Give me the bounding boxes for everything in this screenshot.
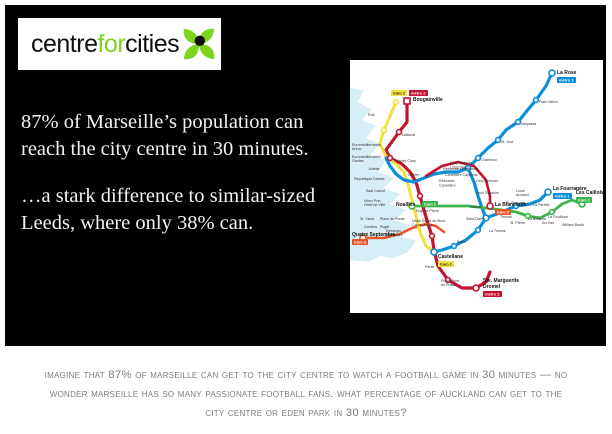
svg-text:métro 2: métro 2 [485, 292, 500, 297]
svg-text:La Parette: La Parette [533, 203, 550, 207]
svg-text:Malpassé: Malpassé [521, 122, 536, 126]
svg-text:République Dames: République Dames [354, 177, 385, 181]
svg-text:William Booth: William Booth [562, 223, 584, 227]
svg-text:St. Just: St. Just [501, 140, 513, 144]
svg-text:Camas: Camas [470, 205, 482, 209]
svg-text:Place de Rome: Place de Rome [380, 217, 405, 221]
svg-text:Dromel: Dromel [483, 284, 501, 290]
centre-for-cities-logo: centreforcities [18, 18, 221, 70]
svg-text:La Timone: La Timone [489, 229, 506, 233]
svg-text:Armand: Armand [516, 193, 529, 197]
svg-text:Eugène Pierre: Eugène Pierre [416, 209, 439, 213]
logo-wordmark: centreforcities [31, 32, 179, 57]
svg-text:La Gouffone: La Gouffone [548, 215, 568, 219]
svg-text:Castellane: Castellane [438, 254, 463, 260]
slide-black-panel: centreforcities 87% of Marseille’s popul… [5, 5, 606, 346]
svg-text:Foch Sakakini: Foch Sakakini [476, 191, 499, 195]
svg-text:Arc Bar: Arc Bar [542, 221, 555, 225]
svg-text:Les Caillols: Les Caillols [576, 190, 603, 196]
svg-text:Gantes: Gantes [352, 159, 364, 163]
headline-line-1: 87% of Marseille’s population can [21, 109, 339, 136]
svg-text:Bougainville: Bougainville [413, 97, 443, 103]
svg-text:Chartreux: Chartreux [481, 158, 497, 162]
svg-text:métro 1: métro 1 [555, 194, 570, 199]
svg-text:La Blancarde: La Blancarde [495, 202, 527, 208]
svg-text:Cours Julien: Cours Julien [412, 223, 432, 227]
svg-text:tram 1: tram 1 [424, 202, 437, 207]
pinwheel-logo-mark-icon [178, 24, 220, 64]
svg-text:métro 2: métro 2 [411, 91, 426, 96]
svg-text:Jolíette: Jolíette [368, 167, 380, 171]
logo-text-centre: centre [31, 30, 97, 58]
headline-line-3: …a stark difference to similar-sized [21, 183, 339, 210]
marseille-transit-map-svg: Frais Vallon Malpassé St. Just Chartreux… [350, 60, 603, 313]
svg-text:Saint-Dame: Saint-Dame [466, 217, 485, 221]
svg-text:Colbert: Colbert [408, 173, 420, 177]
svg-text:Arenc: Arenc [352, 147, 362, 151]
logo-text-cities: cities [125, 30, 179, 58]
svg-text:Cordero: Cordero [364, 225, 377, 229]
logo-text-for: for [97, 30, 125, 58]
svg-text:Sadi Carnot: Sadi Carnot [366, 189, 385, 193]
svg-text:métro 1: métro 1 [559, 78, 574, 83]
svg-text:Baille: Baille [457, 240, 466, 244]
headline-text: 87% of Marseille’s population can reach … [21, 109, 339, 237]
svg-text:Hôtel de Ville: Hôtel de Ville [364, 203, 385, 207]
svg-text:Réformes: Réformes [439, 179, 455, 183]
svg-text:tram 1: tram 1 [578, 198, 591, 203]
headline-line-4: Leeds, where only 38% can. [21, 210, 339, 237]
svg-text:Désirée Clary: Désirée Clary [394, 159, 416, 163]
svg-text:tram 3: tram 3 [354, 240, 367, 245]
svg-text:Timone: Timone [500, 215, 512, 219]
svg-text:La Rose: La Rose [557, 70, 577, 76]
svg-text:Périer: Périer [425, 265, 435, 269]
caption-text: Imagine that 87% of Marseille can get to… [0, 366, 612, 422]
svg-text:Frais Vallon: Frais Vallon [539, 100, 558, 104]
svg-text:Noailles: Noailles [396, 202, 415, 208]
svg-text:du Prado: du Prado [441, 283, 456, 287]
svg-text:Cinq Avenues: Cinq Avenues [450, 161, 472, 165]
svg-text:tram 2: tram 2 [393, 91, 406, 96]
svg-text:Canebière Capucins: Canebière Capucins [445, 173, 478, 177]
svg-text:Réformes • Canebière: Réformes • Canebière [443, 167, 478, 171]
svg-text:tram 2: tram 2 [440, 262, 453, 267]
marseille-transit-map: Frais Vallon Malpassé St. Just Chartreux… [350, 60, 603, 313]
svg-text:Cinq Avenues: Cinq Avenues [476, 179, 498, 183]
svg-text:National: National [402, 133, 415, 137]
svg-text:St. Victor: St. Victor [360, 217, 375, 221]
svg-text:Rufi: Rufi [368, 113, 375, 117]
headline-line-2: reach the city centre in 30 minutes. [21, 136, 339, 163]
svg-text:tram 3: tram 3 [497, 210, 510, 215]
svg-text:Quatre Septembre: Quatre Septembre [352, 232, 396, 238]
svg-text:St. Pierre: St. Pierre [510, 221, 525, 225]
headline-spacer [21, 162, 339, 183]
svg-text:Canebière: Canebière [439, 184, 456, 188]
svg-text:Puget: Puget [380, 225, 389, 229]
